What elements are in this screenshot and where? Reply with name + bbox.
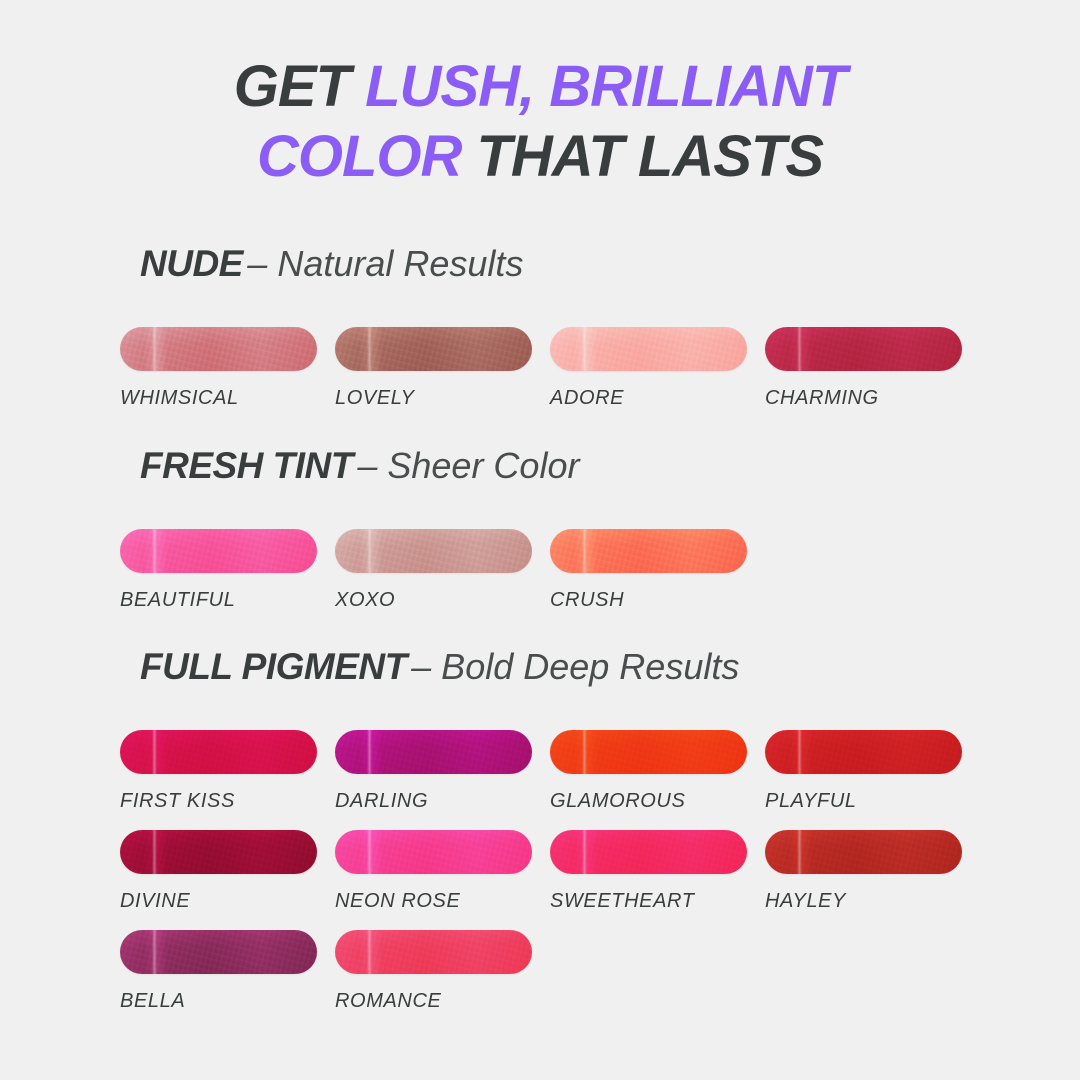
swatch-label-neon-rose: NEON ROSE (335, 890, 532, 913)
swatch-label-whimsical: WHIMSICAL (120, 387, 317, 410)
swatch-highlight (367, 830, 372, 874)
swatch-cell-adore[interactable]: ADORE (550, 327, 747, 410)
swatch-color-playful[interactable] (765, 730, 962, 774)
section-full-pigment-subtitle: – Bold Deep Results (411, 646, 739, 687)
swatch-color-adore[interactable] (550, 327, 747, 371)
swatch-color-xoxo[interactable] (335, 529, 532, 573)
swatch-label-lovely: LOVELY (335, 387, 532, 410)
swatch-row: DIVINE NEON ROSE SWEETHEART HAYLEY (0, 830, 1080, 930)
swatch-texture (550, 830, 747, 874)
swatch-row: WHIMSICAL LOVELY ADORE CHARMING (0, 327, 1080, 427)
section-full-pigment-title: FULL PIGMENT (140, 646, 407, 687)
swatch-highlight (797, 327, 802, 371)
swatch-texture (120, 529, 317, 573)
swatch-cell-romance[interactable]: ROMANCE (335, 930, 532, 1013)
swatch-color-first-kiss[interactable] (120, 730, 317, 774)
swatch-label-first-kiss: FIRST KISS (120, 790, 317, 813)
swatch-texture (765, 730, 962, 774)
swatch-cell-hayley[interactable]: HAYLEY (765, 830, 962, 913)
swatch-texture (765, 327, 962, 371)
swatch-cell-charming[interactable]: CHARMING (765, 327, 962, 410)
swatch-highlight (152, 730, 157, 774)
swatch-cell-bella[interactable]: BELLA (120, 930, 317, 1013)
swatch-label-glamorous: GLAMOROUS (550, 790, 747, 813)
swatch-cell-sweetheart[interactable]: SWEETHEART (550, 830, 747, 913)
swatch-texture (550, 529, 747, 573)
swatch-highlight (582, 730, 587, 774)
swatch-texture (550, 327, 747, 371)
swatch-cell-darling[interactable]: DARLING (335, 730, 532, 813)
swatch-cell-lovely[interactable]: LOVELY (335, 327, 532, 410)
swatch-color-crush[interactable] (550, 529, 747, 573)
swatch-label-romance: ROMANCE (335, 990, 532, 1013)
swatch-color-sweetheart[interactable] (550, 830, 747, 874)
section-fresh-tint-header: FRESH TINT – Sheer Color (0, 447, 1080, 484)
swatch-texture (335, 930, 532, 974)
headline-color: COLOR (257, 124, 477, 189)
page-title: GET LUSH, BRILLIANT COLOR THAT LASTS (0, 52, 1080, 192)
swatch-color-charming[interactable] (765, 327, 962, 371)
swatch-color-darling[interactable] (335, 730, 532, 774)
swatch-label-xoxo: XOXO (335, 589, 532, 612)
headline-lush-brilliant: LUSH, BRILLIANT (365, 54, 846, 119)
swatch-texture (120, 830, 317, 874)
swatch-label-hayley: HAYLEY (765, 890, 962, 913)
swatch-color-bella[interactable] (120, 930, 317, 974)
swatch-texture (335, 529, 532, 573)
swatch-label-beautiful: BEAUTIFUL (120, 589, 317, 612)
swatch-texture (765, 830, 962, 874)
section-nude-header: NUDE – Natural Results (0, 245, 1080, 282)
swatch-label-charming: CHARMING (765, 387, 962, 410)
swatch-highlight (152, 830, 157, 874)
swatch-cell-beautiful[interactable]: BEAUTIFUL (120, 529, 317, 612)
swatch-color-divine[interactable] (120, 830, 317, 874)
swatch-cell-divine[interactable]: DIVINE (120, 830, 317, 913)
swatch-color-neon-rose[interactable] (335, 830, 532, 874)
swatch-color-romance[interactable] (335, 930, 532, 974)
headline-line-2: COLOR THAT LASTS (0, 122, 1080, 192)
swatch-row: FIRST KISS DARLING GLAMOROUS PLAYFUL (0, 730, 1080, 830)
swatch-cell-glamorous[interactable]: GLAMOROUS (550, 730, 747, 813)
swatch-texture (120, 327, 317, 371)
swatch-cell-xoxo[interactable]: XOXO (335, 529, 532, 612)
swatch-label-playful: PLAYFUL (765, 790, 962, 813)
swatch-color-glamorous[interactable] (550, 730, 747, 774)
swatch-highlight (367, 529, 372, 573)
section-nude-title: NUDE (140, 243, 243, 284)
swatch-texture (335, 730, 532, 774)
swatch-label-bella: BELLA (120, 990, 317, 1013)
swatch-color-whimsical[interactable] (120, 327, 317, 371)
swatch-cell-neon-rose[interactable]: NEON ROSE (335, 830, 532, 913)
swatch-highlight (582, 830, 587, 874)
swatch-color-hayley[interactable] (765, 830, 962, 874)
swatch-highlight (797, 730, 802, 774)
headline-line-1: GET LUSH, BRILLIANT (0, 52, 1080, 122)
swatch-label-divine: DIVINE (120, 890, 317, 913)
section-nude-subtitle: – Natural Results (247, 243, 523, 284)
swatch-label-darling: DARLING (335, 790, 532, 813)
swatch-cell-first-kiss[interactable]: FIRST KISS (120, 730, 317, 813)
swatch-cell-crush[interactable]: CRUSH (550, 529, 747, 612)
swatch-highlight (367, 327, 372, 371)
section-fresh-tint-title: FRESH TINT (140, 445, 353, 486)
section-fresh-tint: FRESH TINT – Sheer Color BEAUTIFUL XOXO … (0, 447, 1080, 629)
section-nude: NUDE – Natural Results WHIMSICAL LOVELY … (0, 245, 1080, 427)
section-full-pigment-header: FULL PIGMENT – Bold Deep Results (0, 648, 1080, 685)
swatch-highlight (582, 327, 587, 371)
swatch-highlight (367, 730, 372, 774)
swatch-highlight (797, 830, 802, 874)
lipstick-shade-chart: GET LUSH, BRILLIANT COLOR THAT LASTS NUD… (0, 0, 1080, 1080)
section-fresh-tint-subtitle: – Sheer Color (357, 445, 579, 486)
swatch-highlight (367, 930, 372, 974)
swatch-texture (120, 730, 317, 774)
headline-get: GET (234, 54, 365, 119)
swatch-cell-playful[interactable]: PLAYFUL (765, 730, 962, 813)
swatch-label-crush: CRUSH (550, 589, 747, 612)
swatch-row: BEAUTIFUL XOXO CRUSH (0, 529, 1080, 629)
swatch-label-sweetheart: SWEETHEART (550, 890, 747, 913)
section-full-pigment: FULL PIGMENT – Bold Deep Results FIRST K… (0, 648, 1080, 1030)
swatch-highlight (582, 529, 587, 573)
swatch-texture (335, 327, 532, 371)
swatch-highlight (152, 529, 157, 573)
swatch-label-adore: ADORE (550, 387, 747, 410)
headline-that-lasts: THAT LASTS (476, 124, 823, 189)
swatch-cell-whimsical[interactable]: WHIMSICAL (120, 327, 317, 410)
swatch-texture (120, 930, 317, 974)
swatch-texture (335, 830, 532, 874)
swatch-color-lovely[interactable] (335, 327, 532, 371)
swatch-color-beautiful[interactable] (120, 529, 317, 573)
swatch-row: BELLA ROMANCE (0, 930, 1080, 1030)
swatch-texture (550, 730, 747, 774)
swatch-highlight (152, 930, 157, 974)
swatch-highlight (152, 327, 157, 371)
